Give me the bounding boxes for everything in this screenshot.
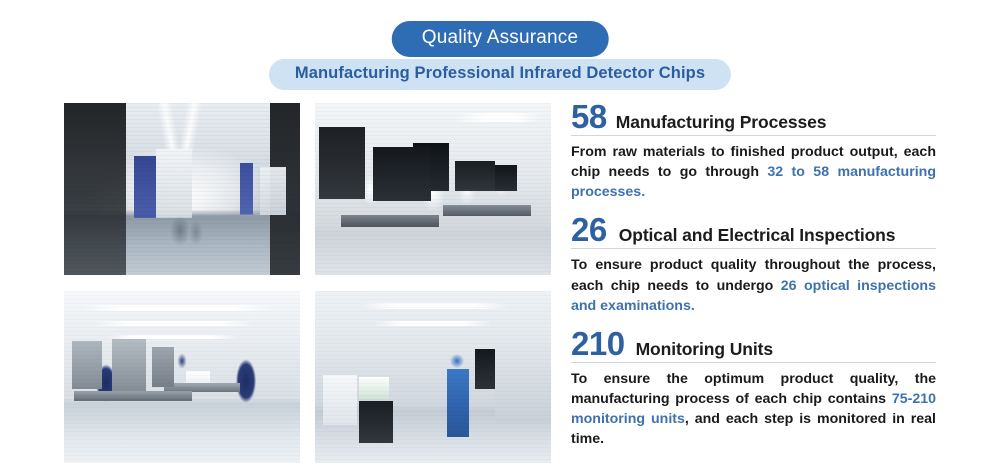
stat-label: Optical and Electrical Inspections <box>619 226 896 245</box>
stat-block-manufacturing-processes: 58 Manufacturing Processes From raw mate… <box>571 100 936 202</box>
stat-number: 210 <box>571 327 625 360</box>
stat-description: From raw materials to finished product o… <box>571 142 936 202</box>
stats-column: 58 Manufacturing Processes From raw mate… <box>571 100 936 450</box>
stat-divider <box>571 362 936 363</box>
stat-block-optical-electrical-inspections: 26 Optical and Electrical Inspections To… <box>571 213 936 315</box>
stat-header: 58 Manufacturing Processes <box>571 100 936 135</box>
stat-label: Monitoring Units <box>636 340 773 359</box>
stat-description: To ensure the optimum product quality, t… <box>571 369 936 450</box>
stat-label: Manufacturing Processes <box>616 113 827 132</box>
quality-assurance-infographic: Quality Assurance Manufacturing Professi… <box>0 0 1000 475</box>
stat-divider <box>571 248 936 249</box>
page-title-badge: Quality Assurance <box>392 21 609 57</box>
stat-header: 210 Monitoring Units <box>571 327 936 362</box>
gallery-photo-operators-white-suits <box>315 103 551 275</box>
stat-header: 26 Optical and Electrical Inspections <box>571 213 936 248</box>
gallery-photo-cleanroom-corridor <box>64 103 300 275</box>
photo-gallery <box>64 103 551 463</box>
plain-text: To ensure the optimum product quality, t… <box>571 371 936 407</box>
gallery-photo-operator-blue-suit <box>315 291 551 463</box>
stat-block-monitoring-units: 210 Monitoring Units To ensure the optim… <box>571 327 936 450</box>
page-subtitle-badge: Manufacturing Professional Infrared Dete… <box>269 59 731 90</box>
stat-number: 26 <box>571 213 607 246</box>
stat-divider <box>571 135 936 136</box>
header: Quality Assurance Manufacturing Professi… <box>0 0 1000 96</box>
stat-number: 58 <box>571 100 607 133</box>
gallery-photo-production-hall <box>64 291 300 463</box>
stat-description: To ensure product quality throughout the… <box>571 255 936 315</box>
